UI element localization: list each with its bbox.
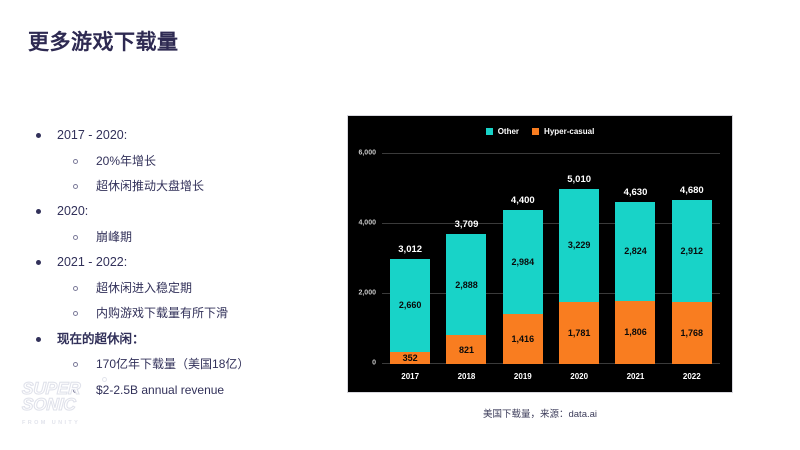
bullet-disc-icon [36,260,41,265]
bullet-item: 现在的超休闲： [34,331,334,348]
x-axis-tick-label: 2020 [570,372,588,381]
plot-area: 02,0004,0006,000 3,0122,66035220173,7092… [382,154,720,364]
bar-segment-label: 2,912 [681,246,704,256]
bar-segment-label: 821 [459,345,474,355]
bar-segment-label: 1,416 [512,334,535,344]
bar-segment-hyper-casual[interactable]: 1,416 [503,314,543,364]
bar-segment-label: 3,229 [568,240,591,250]
x-axis-tick-label: 2018 [458,372,476,381]
bar-segment-hyper-casual[interactable]: 821 [446,335,486,364]
x-axis-tick-label: 2021 [627,372,645,381]
bullet-disc-icon [36,337,41,342]
y-axis-tick-label: 4,000 [358,220,376,227]
legend-item-label: Other [498,127,519,136]
y-axis-tick-label: 0 [372,360,376,367]
bullet-circle-icon [73,311,78,316]
bullet-circle-icon [73,235,78,240]
bar-group[interactable]: 4,6302,8241,8062021 [615,154,655,364]
x-axis-tick-label: 2019 [514,372,532,381]
logo-tagline: FROM UNITY [22,420,118,426]
bar-group[interactable]: 3,0122,6603522017 [390,154,430,364]
bar-total-label: 4,400 [511,195,535,206]
bar-segment-label: 1,781 [568,328,591,338]
bar-segment-other[interactable]: 2,888 [446,234,486,335]
bullet-circle-icon [73,362,78,367]
bullet-circle-icon [73,286,78,291]
legend-swatch-icon [486,128,493,135]
bar-segment-other[interactable]: 2,660 [390,259,430,352]
bar-segment-other[interactable]: 2,984 [503,210,543,314]
bullet-circle-icon [73,159,78,164]
bar-segment-label: 2,888 [455,280,478,290]
bullet-item-label: 超休闲推动大盘增长 [96,178,204,194]
bar-segment-hyper-casual[interactable]: 1,806 [615,301,655,364]
bar-group[interactable]: 4,4002,9841,4162019 [503,154,543,364]
bar-total-label: 3,709 [455,219,479,230]
bar-total-label: 3,012 [398,244,422,255]
legend-swatch-icon [532,128,539,135]
bullet-item-label: 20%年增长 [96,153,156,169]
bar-total-label: 4,680 [680,185,704,196]
bullet-item: 超休闲进入稳定期 [34,280,334,296]
bullet-item-label: 170亿年下载量（美国18亿） [96,356,249,372]
bar-segment-other[interactable]: 2,912 [672,200,712,302]
bullet-item-label: 超休闲进入稳定期 [96,280,192,296]
legend-item[interactable]: Other [486,127,519,136]
bar-segment-hyper-casual[interactable]: 1,768 [672,302,712,364]
y-axis-tick-label: 2,000 [358,290,376,297]
bullet-item: 2020: [34,203,334,220]
bullet-list: 2017 - 2020:20%年增长超休闲推动大盘增长2020:崩峰期2021 … [34,127,334,407]
chart-legend: OtherHyper-casual [348,127,732,136]
bar-segment-label: 2,984 [512,257,535,267]
logo-word-sonic: SONIC [22,397,119,413]
y-axis-tick-label: 6,000 [358,150,376,157]
bar-total-label: 5,010 [567,174,591,185]
x-axis-tick-label: 2022 [683,372,701,381]
bullet-disc-icon [36,133,41,138]
supersonic-logo: SUPER SONIC FROM UNITY [22,381,118,426]
bullet-disc-icon [36,209,41,214]
bar-segment-label: 352 [403,353,418,363]
bullet-item: 内购游戏下载量有所下滑 [34,305,334,321]
bullet-item: 170亿年下载量（美国18亿） [34,356,334,372]
bullet-item-label: 2020: [57,203,88,220]
bar-segment-other[interactable]: 3,229 [559,189,599,302]
bar-total-label: 4,630 [624,187,648,198]
bullet-item-label: 现在的超休闲： [57,331,145,348]
bullet-item-label: 2017 - 2020: [57,127,127,144]
bar-group[interactable]: 4,6802,9121,7682022 [672,154,712,364]
legend-item[interactable]: Hyper-casual [532,127,594,136]
bar-segment-label: 2,660 [399,300,422,310]
bar-group[interactable]: 3,7092,8888212018 [446,154,486,364]
bar-segment-label: 2,824 [624,246,647,256]
bullet-item: 20%年增长 [34,153,334,169]
bar-segment-label: 1,768 [681,328,704,338]
legend-item-label: Hyper-casual [544,127,594,136]
chart-panel: OtherHyper-casual 02,0004,0006,000 3,012… [347,115,733,393]
bars-layer: 3,0122,66035220173,7092,88882120184,4002… [382,154,720,364]
bar-segment-hyper-casual[interactable]: 1,781 [559,302,599,364]
logo-dot-icon [102,377,107,382]
bullet-item: 超休闲推动大盘增长 [34,178,334,194]
bar-segment-label: 1,806 [624,327,647,337]
bullet-item: 2021 - 2022: [34,254,334,271]
bar-group[interactable]: 5,0103,2291,7812020 [559,154,599,364]
bullet-item-label: 内购游戏下载量有所下滑 [96,305,228,321]
bar-segment-other[interactable]: 2,824 [615,202,655,301]
bullet-item: 2017 - 2020: [34,127,334,144]
page-title: 更多游戏下载量 [28,26,179,56]
bar-segment-hyper-casual[interactable]: 352 [390,352,430,364]
bullet-circle-icon [73,184,78,189]
chart-caption: 美国下载量，来源：data.ai [347,406,733,420]
bullet-item-label: 2021 - 2022: [57,254,127,271]
bullet-item: 崩峰期 [34,229,334,245]
bullet-item-label: 崩峰期 [96,229,132,245]
x-axis-tick-label: 2017 [401,372,419,381]
